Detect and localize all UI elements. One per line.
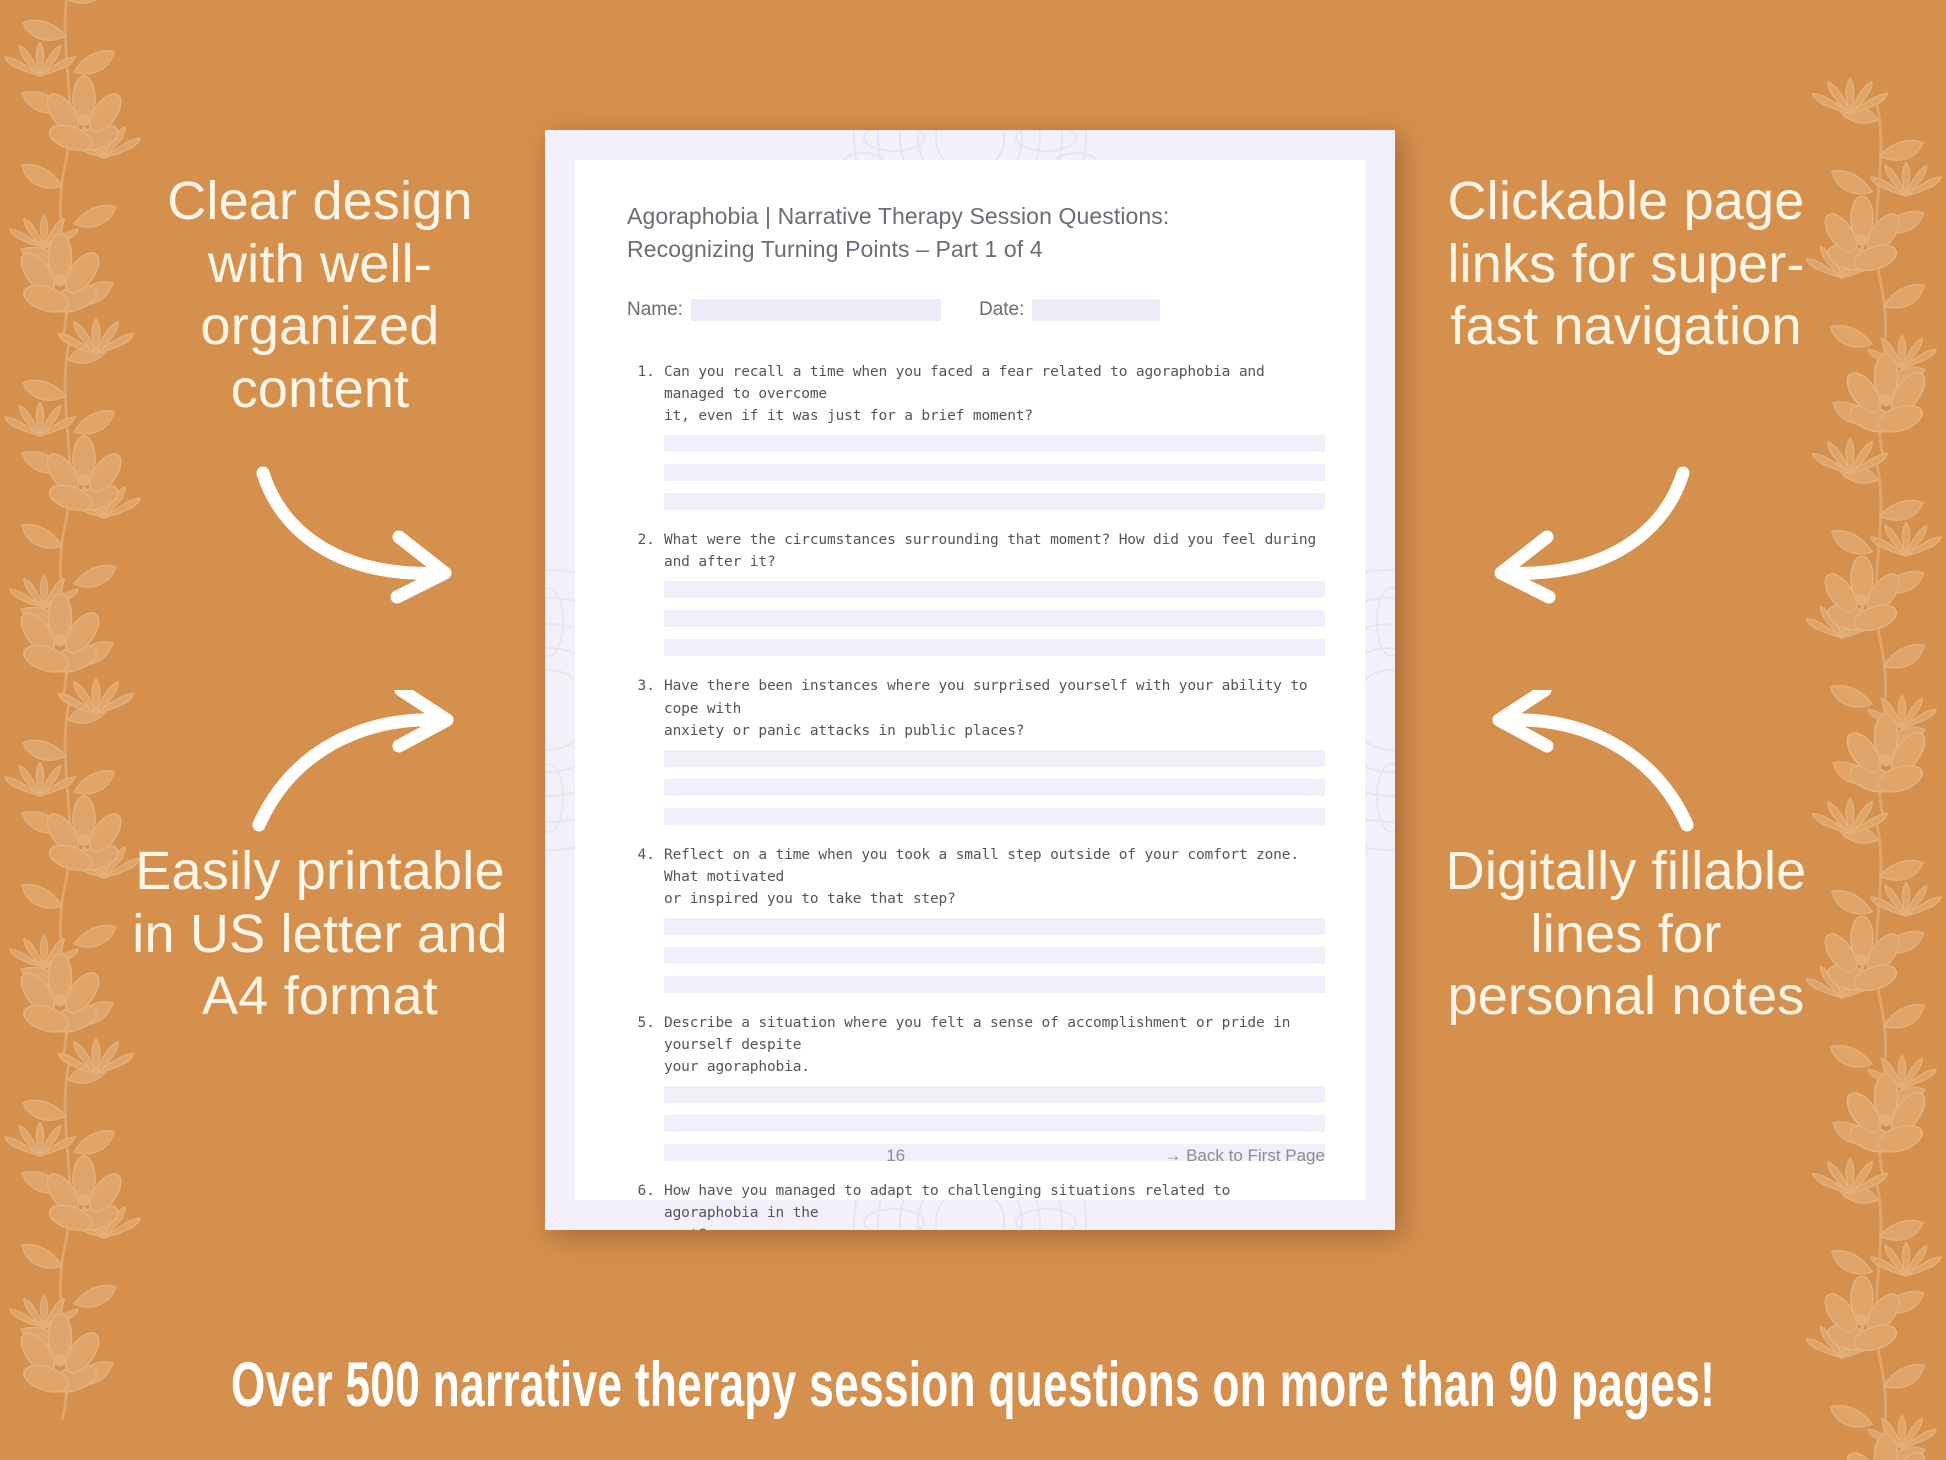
- answer-line[interactable]: [664, 808, 1325, 825]
- promo-clear-design: Clear design with well-organized content: [120, 170, 520, 421]
- answer-line[interactable]: [664, 1086, 1325, 1103]
- question-item: 1.Can you recall a time when you faced a…: [627, 361, 1325, 522]
- question-number: 3.: [627, 675, 664, 836]
- worksheet-footer: 16 → Back to First Page: [627, 1146, 1325, 1166]
- curved-arrow-up-right-icon: [245, 690, 465, 835]
- date-label: Date:: [979, 299, 1024, 321]
- question-text: Reflect on a time when you took a small …: [664, 844, 1325, 910]
- question-list: 1.Can you recall a time when you faced a…: [627, 361, 1325, 1230]
- promo-fillable-lines: Digitally fillable lines for personal no…: [1426, 840, 1826, 1028]
- question-number: 1.: [627, 361, 664, 522]
- question-text: Can you recall a time when you faced a f…: [664, 361, 1325, 427]
- worksheet-sheet: Agoraphobia | Narrative Therapy Session …: [575, 160, 1365, 1200]
- answer-line[interactable]: [664, 750, 1325, 767]
- question-number: 2.: [627, 529, 664, 668]
- curved-arrow-down-left-icon: [1481, 465, 1701, 610]
- question-body: Have there been instances where you surp…: [664, 675, 1325, 836]
- poster-canvas: Clear design with well-organized content…: [0, 0, 1946, 1460]
- bottom-banner: Over 500 narrative therapy session quest…: [0, 1310, 1946, 1460]
- question-body: Reflect on a time when you took a small …: [664, 844, 1325, 1005]
- promo-easily-printable: Easily printable in US letter and A4 for…: [120, 840, 520, 1028]
- answer-line[interactable]: [664, 947, 1325, 964]
- question-text: Have there been instances where you surp…: [664, 675, 1325, 741]
- curved-arrow-down-right-icon: [245, 465, 465, 610]
- meta-row: Name: Date:: [627, 299, 1325, 321]
- answer-lines: [664, 750, 1325, 825]
- question-item: 4.Reflect on a time when you took a smal…: [627, 844, 1325, 1005]
- question-body: What were the circumstances surrounding …: [664, 529, 1325, 668]
- answer-line[interactable]: [664, 779, 1325, 796]
- question-number: 6.: [627, 1180, 664, 1230]
- question-body: How have you managed to adapt to challen…: [664, 1180, 1325, 1230]
- question-item: 3.Have there been instances where you su…: [627, 675, 1325, 836]
- date-input[interactable]: [1032, 299, 1160, 321]
- worksheet-title: Agoraphobia | Narrative Therapy Session …: [627, 200, 1325, 265]
- worksheet-title-line1: Agoraphobia | Narrative Therapy Session …: [627, 203, 1169, 229]
- answer-line[interactable]: [664, 464, 1325, 481]
- question-item: 2.What were the circumstances surroundin…: [627, 529, 1325, 668]
- question-item: 6.How have you managed to adapt to chall…: [627, 1180, 1325, 1230]
- worksheet-page[interactable]: Agoraphobia | Narrative Therapy Session …: [545, 130, 1395, 1230]
- answer-line[interactable]: [664, 610, 1325, 627]
- answer-line[interactable]: [664, 1115, 1325, 1132]
- question-text: What were the circumstances surrounding …: [664, 529, 1325, 573]
- answer-line[interactable]: [664, 581, 1325, 598]
- back-to-first-page-link[interactable]: → Back to First Page: [1164, 1146, 1325, 1166]
- question-number: 4.: [627, 844, 664, 1005]
- question-text: Describe a situation where you felt a se…: [664, 1012, 1325, 1078]
- worksheet-title-line2: Recognizing Turning Points – Part 1 of 4: [627, 233, 1325, 266]
- answer-lines: [664, 581, 1325, 656]
- curved-arrow-up-left-icon: [1481, 690, 1701, 835]
- answer-line[interactable]: [664, 976, 1325, 993]
- answer-line[interactable]: [664, 493, 1325, 510]
- question-body: Can you recall a time when you faced a f…: [664, 361, 1325, 522]
- answer-lines: [664, 435, 1325, 510]
- answer-lines: [664, 918, 1325, 993]
- question-text: How have you managed to adapt to challen…: [664, 1180, 1325, 1230]
- name-label: Name:: [627, 299, 683, 321]
- page-number: 16: [886, 1146, 905, 1166]
- answer-line[interactable]: [664, 639, 1325, 656]
- banner-headline: Over 500 narrative therapy session quest…: [231, 1349, 1715, 1421]
- answer-line[interactable]: [664, 918, 1325, 935]
- promo-clickable-links: Clickable page links for super-fast navi…: [1426, 170, 1826, 358]
- answer-line[interactable]: [664, 435, 1325, 452]
- name-input[interactable]: [691, 299, 941, 321]
